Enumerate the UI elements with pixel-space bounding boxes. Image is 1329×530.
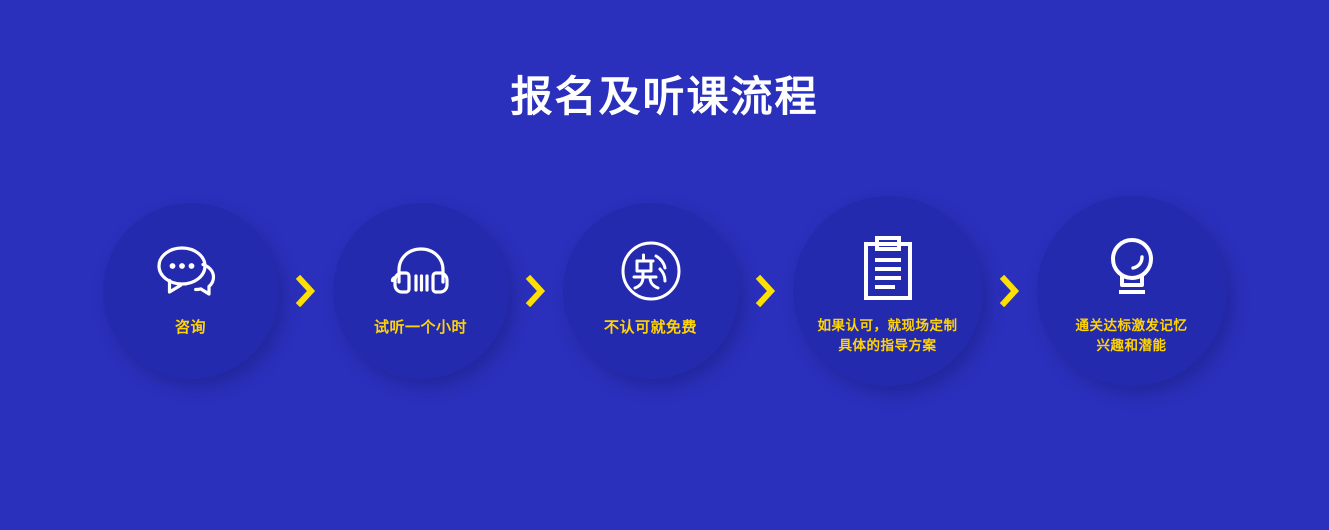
flow-step-consult[interactable]: 咨询	[103, 203, 279, 379]
flow-banner: 报名及听课流程 咨询	[0, 0, 1329, 530]
flow-step-label: 咨询	[175, 317, 206, 339]
page-title: 报名及听课流程	[0, 72, 1329, 122]
headphones-icon	[385, 239, 457, 303]
clipboard-icon	[852, 232, 924, 304]
flow-step-trial-listen[interactable]: 试听一个小时	[333, 203, 509, 379]
flow-step-label: 不认可就免费	[604, 317, 697, 339]
chevron-right-icon	[279, 271, 333, 311]
chat-bubbles-icon	[155, 239, 227, 303]
flow-step-free-if-unsatisfied[interactable]: 不认可就免费	[563, 203, 739, 379]
chevron-right-icon	[739, 271, 793, 311]
chevron-right-icon	[983, 271, 1037, 311]
flow-step-label: 试听一个小时	[374, 317, 467, 339]
free-badge-icon	[615, 239, 687, 303]
flow-step-custom-plan[interactable]: 如果认可，就现场定制 具体的指导方案	[793, 196, 983, 386]
flow-step-label: 通关达标激发记忆 兴趣和潜能	[1076, 316, 1188, 355]
lightbulb-icon	[1096, 232, 1168, 304]
process-flow: 咨询 试听一个小时	[0, 186, 1329, 396]
flow-step-label: 如果认可，就现场定制 具体的指导方案	[818, 316, 958, 355]
flow-step-pass-standard[interactable]: 通关达标激发记忆 兴趣和潜能	[1037, 196, 1227, 386]
chevron-right-icon	[509, 271, 563, 311]
